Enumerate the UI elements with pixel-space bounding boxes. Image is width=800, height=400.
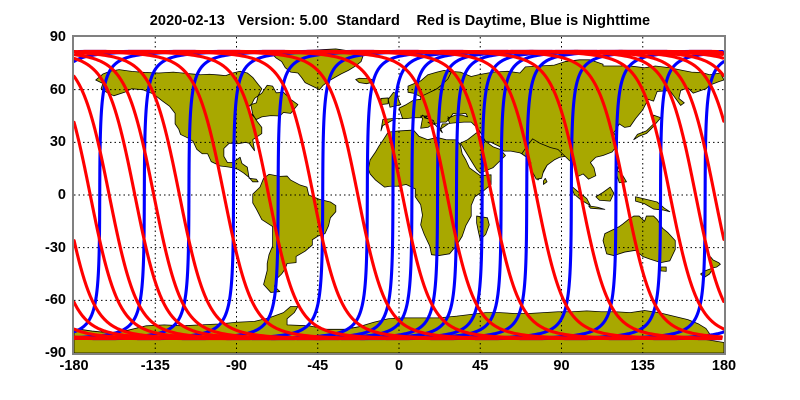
x-tick-label: -45 [307, 358, 328, 374]
y-tick-label: -30 [45, 240, 66, 256]
x-tick-label: 180 [712, 358, 736, 374]
y-tick-label: 60 [50, 82, 66, 98]
landmass [661, 267, 666, 271]
page-title: 2020-02-13 Version: 5.00 Standard Red is… [0, 13, 800, 29]
x-tick-label: 90 [553, 358, 569, 374]
y-tick-label: 0 [58, 187, 66, 203]
plot-area [72, 35, 726, 355]
x-tick-label: -90 [226, 358, 247, 374]
x-tick-label: 135 [631, 358, 655, 374]
world-map-and-tracks [74, 37, 724, 353]
x-tick-label: 45 [472, 358, 488, 374]
y-tick-label: -60 [45, 292, 66, 308]
y-tick-label: 90 [50, 29, 66, 45]
x-tick-label: 0 [395, 358, 403, 374]
ground-track-plot: 2020-02-13 Version: 5.00 Standard Red is… [0, 0, 800, 400]
x-tick-label: -135 [141, 358, 170, 374]
x-tick-label: -180 [59, 358, 88, 374]
y-tick-label: 30 [50, 134, 66, 150]
